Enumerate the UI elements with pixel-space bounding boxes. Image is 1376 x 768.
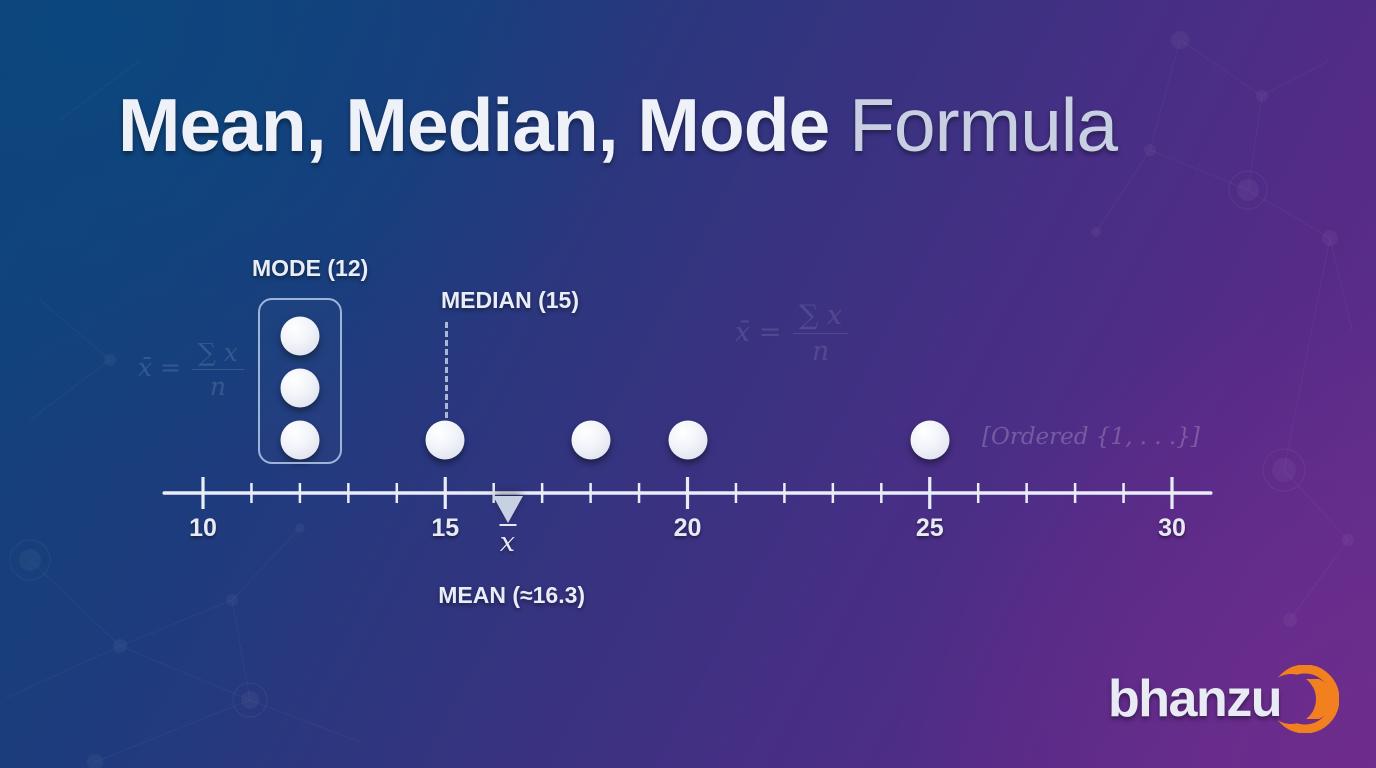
mean-triangle-marker xyxy=(493,496,523,523)
mode-highlight-box xyxy=(258,298,342,464)
axis-tick-label-30: 30 xyxy=(1158,514,1186,543)
slide-canvas: Mean, Median, Mode Formula x̄ = ∑ x n x̄… xyxy=(0,0,1376,768)
mean-symbol-xbar: x xyxy=(500,524,517,558)
crescent-ring-icon xyxy=(1271,665,1339,733)
mean-formula-watermark-right: x̄ = ∑ x n xyxy=(735,300,851,367)
brand-logo-text: bhanzu xyxy=(1108,669,1281,729)
formula-right-equals: = xyxy=(759,317,782,348)
mean-symbol-overbar xyxy=(500,524,517,526)
formula-right-lhs: x̄ xyxy=(735,317,750,348)
formula-left-equals: = xyxy=(160,353,181,382)
formula-left-denominator: n xyxy=(192,369,244,401)
axis-tick-label-10: 10 xyxy=(189,514,217,543)
median-annotation-label: MEDIAN (15) xyxy=(441,287,579,314)
brand-logo: bhanzu xyxy=(1108,668,1339,730)
axis-tick-label-20: 20 xyxy=(674,514,702,543)
mode-annotation-label: MODE (12) xyxy=(252,255,368,282)
mean-annotation-label: MEAN (≈16.3) xyxy=(438,582,585,609)
formula-left-numerator: ∑ x xyxy=(192,338,244,369)
page-title-bold: Mean, Median, Mode xyxy=(118,83,829,167)
formula-left-fraction: ∑ x n xyxy=(192,338,244,401)
axis-tick-label-15: 15 xyxy=(431,514,459,543)
formula-right-denominator: n xyxy=(793,333,848,367)
formula-right-numerator: ∑ x xyxy=(793,300,848,333)
page-title-light: Formula xyxy=(829,83,1117,167)
mean-symbol-letter: x xyxy=(500,527,515,558)
data-point-dot xyxy=(910,421,949,460)
mean-formula-watermark-left: x̄ = ∑ x n xyxy=(138,338,247,401)
page-title: Mean, Median, Mode Formula xyxy=(118,88,1117,163)
axis-tick-label-25: 25 xyxy=(916,514,944,543)
formula-left-lhs: x̄ xyxy=(138,353,152,382)
data-point-dot xyxy=(426,421,465,460)
median-connector-line xyxy=(445,322,448,418)
data-point-dot xyxy=(668,421,707,460)
data-point-dot xyxy=(571,421,610,460)
ordered-set-note: [Ordered {1, . . .}] xyxy=(982,424,1200,450)
formula-right-fraction: ∑ x n xyxy=(793,300,848,367)
